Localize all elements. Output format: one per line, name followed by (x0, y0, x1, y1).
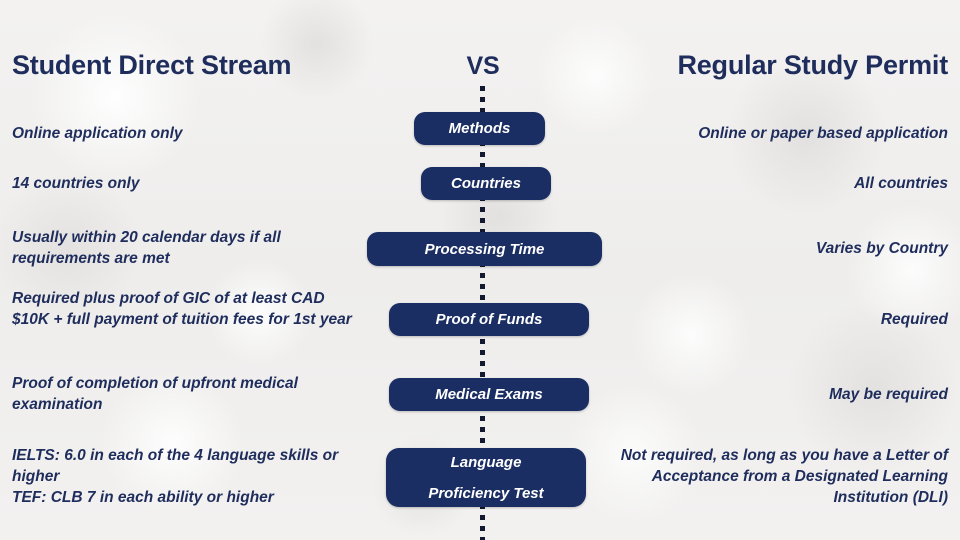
left-value-language-test: IELTS: 6.0 in each of the 4 language ski… (12, 445, 357, 508)
category-pill-proof-of-funds[interactable]: Proof of Funds (389, 303, 589, 336)
category-pill-language-test-label-2: Proficiency Test (428, 485, 543, 502)
category-pill-methods-label: Methods (449, 120, 511, 137)
right-value-proof-of-funds: Required (603, 309, 948, 330)
category-pill-processing-time-label: Processing Time (425, 241, 545, 258)
comparison-infographic: Student Direct Stream VS Regular Study P… (0, 0, 960, 540)
category-pill-countries-label: Countries (451, 175, 521, 192)
category-pill-language-test[interactable]: Language Proficiency Test (386, 448, 586, 507)
category-pill-language-test-label-1: Language (451, 454, 522, 471)
category-pill-medical-exams[interactable]: Medical Exams (389, 378, 589, 411)
right-value-methods: Online or paper based application (603, 123, 948, 144)
left-value-methods: Online application only (12, 123, 357, 144)
category-pill-methods[interactable]: Methods (414, 112, 545, 145)
left-value-language-test-line-2: TEF: CLB 7 in each ability or higher (12, 487, 357, 508)
right-value-medical-exams: May be required (603, 384, 948, 405)
right-value-countries: All countries (603, 173, 948, 194)
left-value-processing-time: Usually within 20 calendar days if all r… (12, 227, 357, 269)
category-pill-medical-exams-label: Medical Exams (435, 386, 543, 403)
left-value-language-test-line-1: IELTS: 6.0 in each of the 4 language ski… (12, 445, 357, 487)
category-pill-proof-of-funds-label: Proof of Funds (436, 311, 543, 328)
column-header-right: Regular Study Permit (677, 50, 948, 81)
left-value-proof-of-funds: Required plus proof of GIC of at least C… (12, 288, 357, 330)
right-value-language-test: Not required, as long as you have a Lett… (603, 445, 948, 508)
right-value-processing-time: Varies by Country (603, 238, 948, 259)
category-pill-processing-time[interactable]: Processing Time (367, 232, 602, 266)
left-value-countries: 14 countries only (12, 173, 357, 194)
left-value-medical-exams: Proof of completion of upfront medical e… (12, 373, 357, 415)
category-pill-countries[interactable]: Countries (421, 167, 551, 200)
